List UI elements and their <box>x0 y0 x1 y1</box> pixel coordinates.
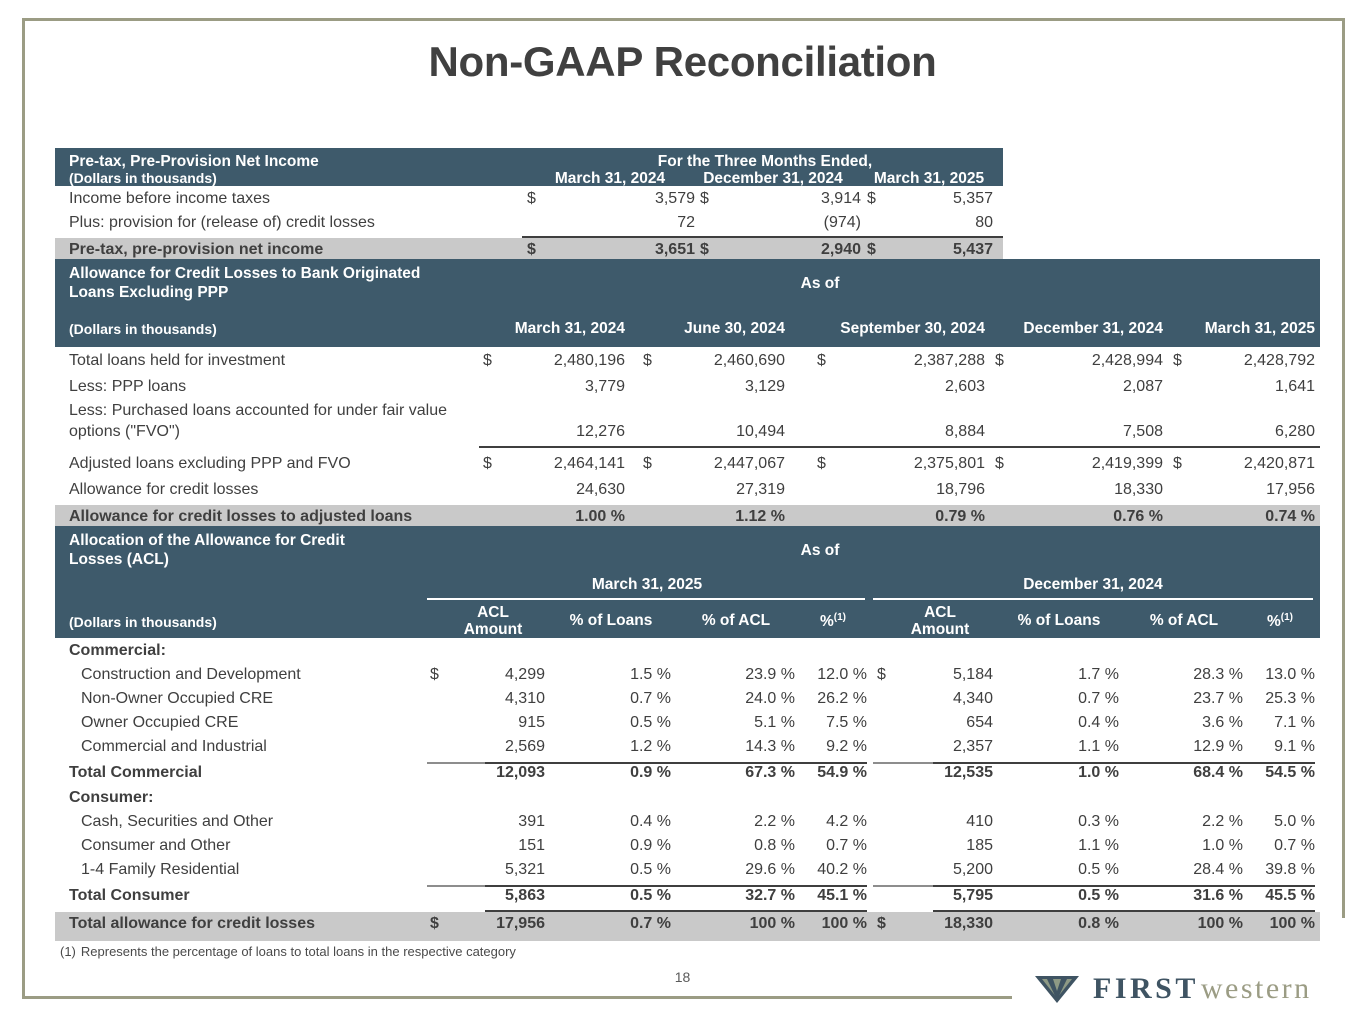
table2-total-label: Allowance for credit losses to adjusted … <box>69 508 412 526</box>
table3-col-header-pct-acl-mar: % of ACL <box>677 612 795 630</box>
table1-row0-value-1: 3,914 <box>705 190 861 208</box>
table3-s0-r3-b0: 2,357 <box>885 738 993 756</box>
table3-grand-a0: 17,956 <box>437 915 545 933</box>
table2-row4-value-1: 27,319 <box>650 481 785 499</box>
table1-row0-value-2: 5,357 <box>873 190 993 208</box>
table3-grand-a1: 0.7 % <box>551 915 671 933</box>
table3-grand-b1: 0.8 % <box>999 915 1119 933</box>
table2-row0-value-1: 2,460,690 <box>650 352 785 370</box>
table3-s0-r2-b2: 3.6 % <box>1125 714 1243 732</box>
table1-row0-value-0: 3,579 <box>535 190 695 208</box>
table2-header: Allowance for Credit Losses to Bank Orig… <box>55 259 1320 347</box>
frame-border-top <box>22 18 1345 21</box>
table2-row1-label: Less: PPP loans <box>69 378 186 396</box>
table3-s1-r1-a1: 0.9 % <box>551 837 671 855</box>
table3-col-header-pct-dec-symbol: % <box>1267 613 1281 630</box>
table3-header: Allocation of the Allowance for Credit L… <box>55 526 1320 638</box>
company-logo: FIRST western <box>1035 972 1312 1006</box>
table3-s0-sub-a3: 54.9 % <box>801 764 867 782</box>
table3-s1-r0-b0: 410 <box>885 813 993 831</box>
table3-s1-sub-a0: 5,863 <box>437 887 545 905</box>
table3-s0-r0-a0: 4,299 <box>437 666 545 684</box>
table3-s0-r1-b2: 23.7 % <box>1125 690 1243 708</box>
table3-col-header-pct-acl-dec: % of ACL <box>1125 612 1243 630</box>
table3-s0-sub-a2: 67.3 % <box>677 764 795 782</box>
table3-col-header-pct-mar-superscript: (1) <box>834 612 846 623</box>
table2-row4-value-4: 17,956 <box>1180 481 1315 499</box>
table3-s1-sub-a3: 45.1 % <box>801 887 867 905</box>
table3-s1-r0-a0: 391 <box>437 813 545 831</box>
table3-s0-r2-a3: 7.5 % <box>801 714 867 732</box>
table2-row3-value-2: 2,375,801 <box>825 455 985 473</box>
table2-row1-value-1: 3,129 <box>650 378 785 396</box>
table3-s0-r2-a1: 0.5 % <box>551 714 671 732</box>
frame-border-right <box>1342 18 1345 918</box>
table3-s1-r0-a1: 0.4 % <box>551 813 671 831</box>
table3-subtotal-commercial: Total Commercial 12,093 0.9 % 67.3 % 54.… <box>55 762 1320 789</box>
table3-s1-r2-a0: 5,321 <box>437 861 545 879</box>
table3-s0-sub-b2: 68.4 % <box>1125 764 1243 782</box>
table3-section1-heading: Consumer: <box>69 789 153 807</box>
table3-units: (Dollars in thousands) <box>69 614 217 630</box>
table3-s1-r2-a1: 0.5 % <box>551 861 671 879</box>
table1-total-value-1: 2,940 <box>705 241 861 259</box>
table1-period-label: For the Three Months Ended, <box>535 153 995 171</box>
table1-row1-value-2: 80 <box>873 214 993 232</box>
table3-s1-r0-label: Cash, Securities and Other <box>81 813 273 831</box>
table2-row3-value-0: 2,464,141 <box>490 455 625 473</box>
table2-row4-value-2: 18,796 <box>825 481 985 499</box>
table3-title-line1: Allocation of the Allowance for Credit <box>69 532 345 550</box>
table3-period-label: As of <box>735 542 905 560</box>
table3-s0-sub-a0: 12,093 <box>437 764 545 782</box>
table2-col-header-2: September 30, 2024 <box>795 320 985 338</box>
table2-row4-value-3: 18,330 <box>1003 481 1163 499</box>
table3-title-line2: Losses (ACL) <box>69 551 169 569</box>
table3-s1-r1-a2: 0.8 % <box>677 837 795 855</box>
table3-group-rule-1 <box>873 598 1313 600</box>
table2-row0-value-3: 2,428,994 <box>1003 352 1163 370</box>
table-row: Less: Purchased loans accounted for unde… <box>55 402 1320 450</box>
table2-total-value-1: 1.12 % <box>650 508 785 526</box>
table3-s1-r1-a0: 151 <box>437 837 545 855</box>
table2-total-value-0: 1.00 % <box>490 508 625 526</box>
table1-total-value-2: 5,437 <box>873 241 993 259</box>
table3-s0-r2-a0: 915 <box>437 714 545 732</box>
table3-section-heading-consumer: Consumer: <box>55 789 1320 813</box>
table3-col-header-pct-mar-symbol: % <box>820 613 834 630</box>
table3-grand-b2: 100 % <box>1125 915 1243 933</box>
frame-border-left <box>22 18 25 999</box>
table2-col-header-1: June 30, 2024 <box>635 320 785 338</box>
table3-section-heading-commercial: Commercial: <box>55 638 1320 666</box>
table1-row0-label: Income before income taxes <box>69 190 270 208</box>
table3-group-header-0: March 31, 2025 <box>427 576 867 594</box>
table3-s0-r1-a1: 0.7 % <box>551 690 671 708</box>
table3-col-header-pct-dec: %(1) <box>1247 612 1313 631</box>
table2-row3-label: Adjusted loans excluding PPP and FVO <box>69 455 351 473</box>
table1-title: Pre-tax, Pre-Provision Net Income <box>69 153 319 171</box>
table3-group-header-1: December 31, 2024 <box>873 576 1313 594</box>
table1-total-label: Pre-tax, pre-provision net income <box>69 241 323 259</box>
table2-row3-value-3: 2,419,399 <box>1003 455 1163 473</box>
table3-grand-b3: 100 % <box>1249 915 1315 933</box>
table2-col-header-3: December 31, 2024 <box>983 320 1163 338</box>
table3-s0-r3-a0: 2,569 <box>437 738 545 756</box>
w-shield-icon <box>1035 974 1079 1004</box>
page-title: Non-GAAP Reconciliation <box>0 38 1365 86</box>
table2-row0-value-2: 2,387,288 <box>825 352 985 370</box>
table3-s0-r3-a3: 9.2 % <box>801 738 867 756</box>
table2-row2-label-line2: options ("FVO") <box>69 423 180 441</box>
table3-grand-a3: 100 % <box>801 915 867 933</box>
table3-s1-r0-a2: 2.2 % <box>677 813 795 831</box>
table2-row3-value-4: 2,420,871 <box>1180 455 1315 473</box>
table1-header: Pre-tax, Pre-Provision Net Income For th… <box>55 148 1003 186</box>
table2-col-header-4: March 31, 2025 <box>1165 320 1315 338</box>
table3-s1-r2-b2: 28.4 % <box>1125 861 1243 879</box>
table3-s1-r1-b0: 185 <box>885 837 993 855</box>
table3-s0-r1-a3: 26.2 % <box>801 690 867 708</box>
footnote-text: Represents the percentage of loans to to… <box>81 944 516 959</box>
table3-s0-sub-a1: 0.9 % <box>551 764 671 782</box>
table2-row4-label: Allowance for credit losses <box>69 481 258 499</box>
table3-s0-r1-a0: 4,310 <box>437 690 545 708</box>
table-row: Total loans held for investment $ 2,480,… <box>55 347 1320 376</box>
table3-section0-heading: Commercial: <box>69 642 166 660</box>
table2-total-value-4: 0.74 % <box>1180 508 1315 526</box>
table3-grand-total-row: Total allowance for credit losses $ 17,9… <box>55 912 1320 941</box>
table2-total-value-3: 0.76 % <box>1003 508 1163 526</box>
table3-s1-r0-b2: 2.2 % <box>1125 813 1243 831</box>
table3-s0-r1-label: Non-Owner Occupied CRE <box>81 690 273 708</box>
table3-s0-subtotal-label: Total Commercial <box>69 764 202 782</box>
table3-col-header-acl-amount-dec-line1: ACL <box>924 604 956 621</box>
table3-s1-r0-b1: 0.3 % <box>999 813 1119 831</box>
table-pretax-preprovision-net-income: Pre-tax, Pre-Provision Net Income For th… <box>55 148 1003 267</box>
table3-s1-r0-a3: 4.2 % <box>801 813 867 831</box>
table3-col-header-acl-amount-dec: ACL Amount <box>887 604 993 638</box>
table2-row1-value-3: 2,087 <box>1003 378 1163 396</box>
table3-s0-r3-a1: 1.2 % <box>551 738 671 756</box>
table2-title-line1: Allowance for Credit Losses to Bank Orig… <box>69 265 420 283</box>
table3-s1-r0-b3: 5.0 % <box>1249 813 1315 831</box>
slide-canvas: Non-GAAP Reconciliation Pre-tax, Pre-Pro… <box>0 0 1365 1024</box>
table2-row1-value-4: 1,641 <box>1180 378 1315 396</box>
table1-row1-label: Plus: provision for (release of) credit … <box>69 214 375 232</box>
table3-s0-sub-b0: 12,535 <box>885 764 993 782</box>
table3-s0-r3-label: Commercial and Industrial <box>81 738 267 756</box>
table3-s1-r1-b2: 1.0 % <box>1125 837 1243 855</box>
table-row: Non-Owner Occupied CRE 4,310 0.7 % 24.0 … <box>55 690 1320 714</box>
table2-title-line2: Loans Excluding PPP <box>69 284 228 302</box>
table3-s0-r1-a2: 24.0 % <box>677 690 795 708</box>
table2-row0-value-4: 2,428,792 <box>1180 352 1315 370</box>
table1-units: (Dollars in thousands) <box>69 170 217 186</box>
table3-s1-r1-b3: 0.7 % <box>1249 837 1315 855</box>
table3-grand-a2: 100 % <box>677 915 795 933</box>
table3-s1-r1-a3: 0.7 % <box>801 837 867 855</box>
table3-s0-r1-b1: 0.7 % <box>999 690 1119 708</box>
table3-s0-r2-b1: 0.4 % <box>999 714 1119 732</box>
table1-row1-value-1: (974) <box>705 214 861 232</box>
table3-col-header-acl-amount-mar: ACL Amount <box>440 604 546 638</box>
table2-row2-value-0: 12,276 <box>490 423 625 441</box>
table3-s0-sub-b1: 1.0 % <box>999 764 1119 782</box>
table1-total-value-0: 3,651 <box>535 241 695 259</box>
table3-col-header-pct-loans-dec: % of Loans <box>999 612 1119 630</box>
table3-s0-r0-b2: 28.3 % <box>1125 666 1243 684</box>
table3-s0-r3-a2: 14.3 % <box>677 738 795 756</box>
table3-s1-r2-a2: 29.6 % <box>677 861 795 879</box>
table3-s1-r2-label: 1-4 Family Residential <box>81 861 239 879</box>
table-row: Allowance for credit losses 24,630 27,31… <box>55 479 1320 505</box>
table3-s0-r2-b3: 7.1 % <box>1249 714 1315 732</box>
table2-row0-label: Total loans held for investment <box>69 352 285 370</box>
table1-row1-value-0: 72 <box>535 214 695 232</box>
table3-s0-r0-b1: 1.7 % <box>999 666 1119 684</box>
table2-row1-value-2: 2,603 <box>825 378 985 396</box>
table3-s0-r0-a2: 23.9 % <box>677 666 795 684</box>
table3-s0-r3-b2: 12.9 % <box>1125 738 1243 756</box>
table3-s0-r3-b3: 9.1 % <box>1249 738 1315 756</box>
table2-row2-value-4: 6,280 <box>1180 423 1315 441</box>
table2-row2-label-line1: Less: Purchased loans accounted for unde… <box>69 402 447 420</box>
table3-group-rule-0 <box>427 598 865 600</box>
table3-s1-sub-a2: 32.7 % <box>677 887 795 905</box>
table-row: Construction and Development $ 4,299 1.5… <box>55 666 1320 690</box>
frame-border-bottom <box>22 996 1012 999</box>
table2-row0-value-0: 2,480,196 <box>490 352 625 370</box>
table3-s0-r2-label: Owner Occupied CRE <box>81 714 238 732</box>
table3-s1-sub-a1: 0.5 % <box>551 887 671 905</box>
table-allocation-allowance-credit-losses: Allocation of the Allowance for Credit L… <box>55 526 1320 941</box>
table3-s1-r2-b1: 0.5 % <box>999 861 1119 879</box>
footnote-marker: (1) <box>60 944 76 959</box>
table2-total-value-2: 0.79 % <box>825 508 985 526</box>
table3-grand-total-label: Total allowance for credit losses <box>69 915 315 933</box>
table3-s1-r2-b0: 5,200 <box>885 861 993 879</box>
table3-s1-sub-b1: 0.5 % <box>999 887 1119 905</box>
table2-row1-value-0: 3,779 <box>490 378 625 396</box>
table3-s1-r1-label: Consumer and Other <box>81 837 230 855</box>
table3-s1-r2-a3: 40.2 % <box>801 861 867 879</box>
table3-s0-sub-b3: 54.5 % <box>1249 764 1315 782</box>
table-row: Income before income taxes $ 3,579 $ 3,9… <box>55 186 1003 212</box>
table2-row3-value-1: 2,447,067 <box>650 455 785 473</box>
table3-s1-subtotal-label: Total Consumer <box>69 887 190 905</box>
table3-col-header-pct-loans-mar: % of Loans <box>551 612 671 630</box>
table-row: Owner Occupied CRE 915 0.5 % 5.1 % 7.5 %… <box>55 714 1320 738</box>
table2-row2-value-3: 7,508 <box>1003 423 1163 441</box>
table3-s0-r0-a1: 1.5 % <box>551 666 671 684</box>
table2-col-header-0: March 31, 2024 <box>455 320 625 338</box>
table3-col-header-pct-dec-superscript: (1) <box>1281 612 1293 623</box>
table-row: Consumer and Other 151 0.9 % 0.8 % 0.7 %… <box>55 837 1320 861</box>
table2-units: (Dollars in thousands) <box>69 321 217 337</box>
logo-text-western: western <box>1201 972 1312 1006</box>
table3-s0-r3-b1: 1.1 % <box>999 738 1119 756</box>
table2-row2-value-1: 10,494 <box>650 423 785 441</box>
table-row: Commercial and Industrial 2,569 1.2 % 14… <box>55 738 1320 762</box>
table3-s1-sub-b0: 5,795 <box>885 887 993 905</box>
table3-s0-r2-b0: 654 <box>885 714 993 732</box>
table-row: Plus: provision for (release of) credit … <box>55 212 1003 238</box>
table3-s0-r0-b0: 5,184 <box>885 666 993 684</box>
table3-s1-sub-b2: 31.6 % <box>1125 887 1243 905</box>
table3-s0-r0-b3: 13.0 % <box>1249 666 1315 684</box>
table3-col-header-acl-amount-mar-line1: ACL <box>477 604 509 621</box>
table3-s0-r0-label: Construction and Development <box>81 666 301 684</box>
table-row: Adjusted loans excluding PPP and FVO $ 2… <box>55 450 1320 479</box>
table3-s1-sub-b3: 45.5 % <box>1249 887 1315 905</box>
table3-s0-r1-b3: 25.3 % <box>1249 690 1315 708</box>
table-allowance-credit-losses-bank-originated: Allowance for Credit Losses to Bank Orig… <box>55 259 1320 534</box>
table3-s1-r2-b3: 39.8 % <box>1249 861 1315 879</box>
table3-s0-r0-a3: 12.0 % <box>801 666 867 684</box>
table2-row2-value-2: 8,884 <box>825 423 985 441</box>
table3-grand-b0: 18,330 <box>885 915 993 933</box>
table3-s0-r2-a2: 5.1 % <box>677 714 795 732</box>
table3-s0-r1-b0: 4,340 <box>885 690 993 708</box>
table2-subtotal-rule <box>479 446 1320 448</box>
table2-row4-value-0: 24,630 <box>490 481 625 499</box>
table3-subtotal-consumer: Total Consumer 5,863 0.5 % 32.7 % 45.1 %… <box>55 885 1320 912</box>
table3-col-header-acl-amount-dec-line2: Amount <box>911 621 970 638</box>
footnote: (1)Represents the percentage of loans to… <box>60 944 516 959</box>
table3-col-header-pct-mar: %(1) <box>799 612 867 631</box>
table-row: Cash, Securities and Other 391 0.4 % 2.2… <box>55 813 1320 837</box>
table2-period-label: As of <box>735 275 905 293</box>
table-row: 1-4 Family Residential 5,321 0.5 % 29.6 … <box>55 861 1320 885</box>
table3-s1-r1-b1: 1.1 % <box>999 837 1119 855</box>
table-row: Less: PPP loans 3,779 3,129 2,603 2,087 … <box>55 376 1320 402</box>
logo-text-first: FIRST <box>1093 972 1199 1006</box>
table3-col-header-acl-amount-mar-line2: Amount <box>464 621 523 638</box>
